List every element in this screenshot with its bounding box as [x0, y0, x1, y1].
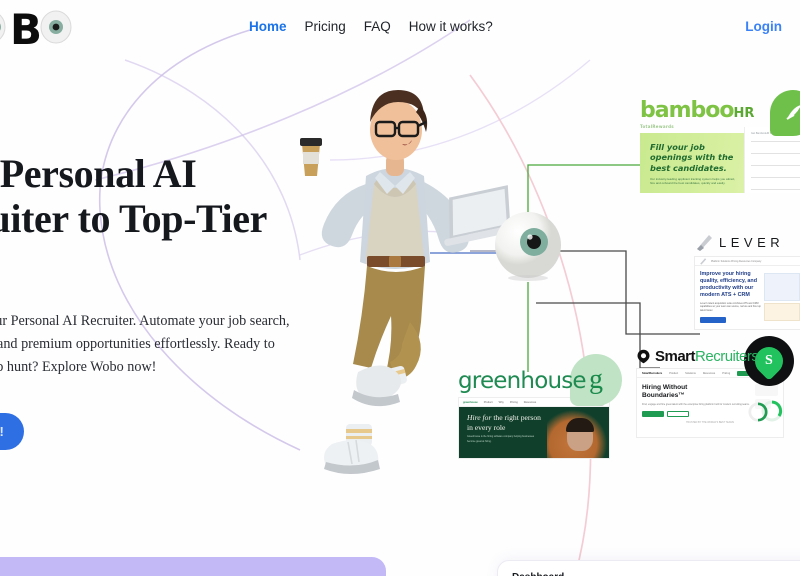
- form-row[interactable]: [751, 135, 800, 142]
- smartrecruiters-preview: [755, 384, 778, 417]
- lever-logo-text: LEVER: [719, 235, 784, 250]
- lever-hero: Improve your hiring quality, efficiency,…: [695, 266, 800, 323]
- smartrecruiters-headline: Hiring Without Boundaries™: [642, 384, 702, 400]
- try-for-free-button[interactable]: Try for Free!: [0, 413, 24, 450]
- hero-headline: Your Personal AI Recruiter to Top-Tier J…: [0, 152, 328, 286]
- lever-nav: Platform Solutions Pricing Resources Com…: [695, 257, 800, 266]
- hero-paragraph: Meet Wobo, your Personal AI Recruiter. A…: [0, 310, 290, 379]
- bamboohr-body: Our industry-leading applicant tracking …: [640, 173, 736, 186]
- lever-mark-icon: [694, 232, 714, 252]
- smartrecruiters-logo-text: Smart: [655, 348, 695, 365]
- eyeball-mascot-icon: [492, 209, 564, 281]
- lever-body: Lever's talent acquisition suite combine…: [700, 302, 762, 314]
- bamboohr-logo-suffix: HR: [734, 106, 755, 121]
- bamboohr-logo: bambooHR TotalRewards: [640, 98, 800, 129]
- bottom-purple-card[interactable]: [0, 557, 386, 576]
- form-row[interactable]: [751, 147, 800, 154]
- bamboohr-headline: Fill your job openings with the best can…: [640, 133, 738, 173]
- hero-section: Your Personal AI Recruiter to Top-Tier J…: [0, 152, 328, 450]
- nav-links: Home Pricing FAQ How it works?: [249, 19, 493, 34]
- lever-logo: LEVER: [694, 232, 800, 252]
- pin-icon: [636, 349, 651, 364]
- smartrecruiters-contact-button[interactable]: [667, 411, 689, 417]
- dashboard-title: Dashboard: [512, 572, 800, 576]
- smartrecruiters-body: Find, engage and hire great talent with …: [642, 403, 750, 407]
- dashboard-card[interactable]: Dashboard: [497, 560, 800, 576]
- form-row[interactable]: [751, 171, 800, 178]
- lever-preview-image: [764, 271, 800, 323]
- login-button[interactable]: Login: [745, 19, 782, 34]
- greenhouse-person-hair: [566, 418, 594, 432]
- page-root: B Home Pricing FAQ How it works? Login Y…: [0, 0, 800, 576]
- bamboohr-logo-sub: TotalRewards: [640, 124, 800, 129]
- nav-item-how-it-works[interactable]: How it works?: [409, 19, 493, 34]
- lever-headline: Improve your hiring quality, efficiency,…: [700, 271, 762, 299]
- top-navigation: B Home Pricing FAQ How it works? Login: [0, 0, 800, 54]
- smartrecruiters-demo-button[interactable]: [642, 411, 664, 417]
- bamboohr-signup-form[interactable]: Get BambooHR Free: [744, 127, 800, 193]
- brand-logo[interactable]: B: [0, 4, 86, 50]
- nav-item-home[interactable]: Home: [249, 19, 287, 34]
- smartrecruiters-logo: SmartRecruiters: [636, 348, 784, 365]
- nav-item-pricing[interactable]: Pricing: [305, 19, 346, 34]
- bamboohr-logo-text: bamboo: [640, 98, 734, 123]
- smartrecruiters-logo-accent: Recruiters: [695, 348, 758, 365]
- nav-item-faq[interactable]: FAQ: [364, 19, 391, 34]
- lever-cta-button[interactable]: [700, 317, 726, 323]
- bamboohr-panel: Fill your job openings with the best can…: [640, 133, 800, 193]
- card-smartrecruiters[interactable]: S SmartRecruiters SmartRecruiters Produc…: [636, 348, 784, 438]
- form-row[interactable]: [751, 159, 800, 166]
- card-bamboohr[interactable]: bambooHR TotalRewards Fill your job open…: [640, 98, 800, 193]
- card-lever[interactable]: LEVER Platform Solutions Pricing Resourc…: [694, 232, 800, 330]
- form-row[interactable]: [751, 183, 800, 190]
- svg-text:B: B: [10, 5, 42, 50]
- lever-screenshot: Platform Solutions Pricing Resources Com…: [694, 256, 800, 330]
